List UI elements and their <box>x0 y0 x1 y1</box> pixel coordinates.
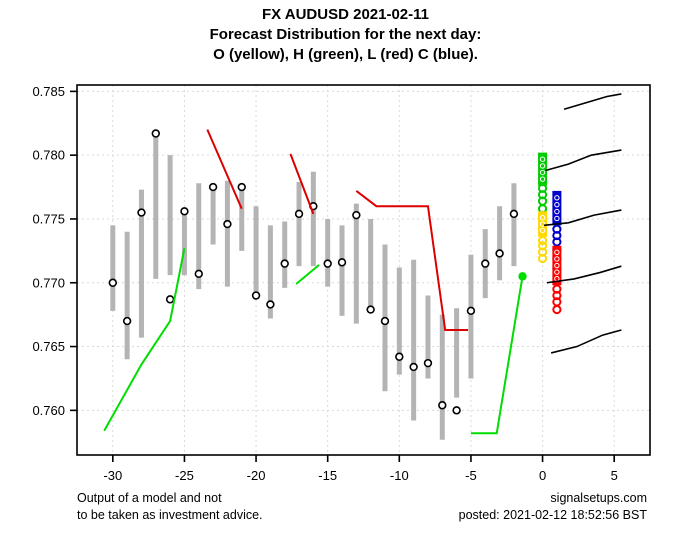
disclaimer-line-1: Output of a model and not <box>77 490 263 507</box>
close-marker <box>425 360 432 367</box>
close-marker <box>195 270 202 277</box>
close-marker <box>238 184 245 191</box>
close-marker <box>353 212 360 219</box>
close-marker <box>468 307 475 314</box>
attribution-text: signalsetups.com posted: 2021-02-12 18:5… <box>459 490 647 524</box>
x-axis-label: -15 <box>318 468 337 483</box>
x-axis-label: -30 <box>103 468 122 483</box>
plot-frame <box>77 85 650 455</box>
close-marker <box>511 210 518 217</box>
chart-root: FX AUDUSD 2021-02-11 Forecast Distributi… <box>0 0 691 552</box>
resistance-line-segment <box>290 154 313 214</box>
close-marker <box>296 210 303 217</box>
y-axis-label: 0.770 <box>32 275 65 290</box>
close-marker <box>367 306 374 313</box>
x-axis-label: -25 <box>175 468 194 483</box>
x-axis-label: -20 <box>247 468 266 483</box>
low_forecast-dense-band <box>552 246 561 286</box>
close-marker <box>181 208 188 215</box>
posted-timestamp: posted: 2021-02-12 18:52:56 BST <box>459 507 647 524</box>
plot-area: 0.7850.7800.7750.7700.7650.760-30-25-20-… <box>0 0 691 552</box>
close-marker <box>253 292 260 299</box>
low_forecast-point <box>553 306 560 313</box>
close-marker <box>167 296 174 303</box>
close-marker <box>152 130 159 137</box>
x-axis-label: 0 <box>539 468 546 483</box>
x-axis-label: 5 <box>611 468 618 483</box>
site-name: signalsetups.com <box>459 490 647 507</box>
quantile-path <box>545 150 621 170</box>
close-marker <box>138 209 145 216</box>
close-marker <box>339 259 346 266</box>
disclaimer-text: Output of a model and not to be taken as… <box>77 490 263 524</box>
high_forecast-dense-band <box>538 153 547 186</box>
y-axis-label: 0.785 <box>32 84 65 99</box>
close-marker <box>439 402 446 409</box>
close-marker <box>496 250 503 257</box>
y-axis-label: 0.765 <box>32 339 65 354</box>
close-marker <box>210 184 217 191</box>
support-line-segment <box>104 248 184 430</box>
support-line-segment <box>296 265 319 284</box>
y-axis-label: 0.760 <box>32 403 65 418</box>
quantile-path <box>564 94 621 109</box>
close-marker <box>396 353 403 360</box>
close-marker <box>109 279 116 286</box>
disclaimer-line-2: to be taken as investment advice. <box>77 507 263 524</box>
close-marker <box>324 260 331 267</box>
quantile-path <box>551 330 621 353</box>
close-marker <box>382 318 389 325</box>
close-marker <box>224 221 231 228</box>
close-marker <box>410 364 417 371</box>
x-axis-label: -5 <box>465 468 477 483</box>
close-marker <box>281 260 288 267</box>
close-marker <box>124 318 131 325</box>
x-axis-label: -10 <box>390 468 409 483</box>
support-line-segment <box>471 276 523 433</box>
y-axis-label: 0.775 <box>32 211 65 226</box>
support-endpoint-marker <box>518 272 526 280</box>
close-marker <box>453 407 460 414</box>
y-axis-label: 0.780 <box>32 148 65 163</box>
close-marker <box>267 301 274 308</box>
close-marker <box>482 260 489 267</box>
